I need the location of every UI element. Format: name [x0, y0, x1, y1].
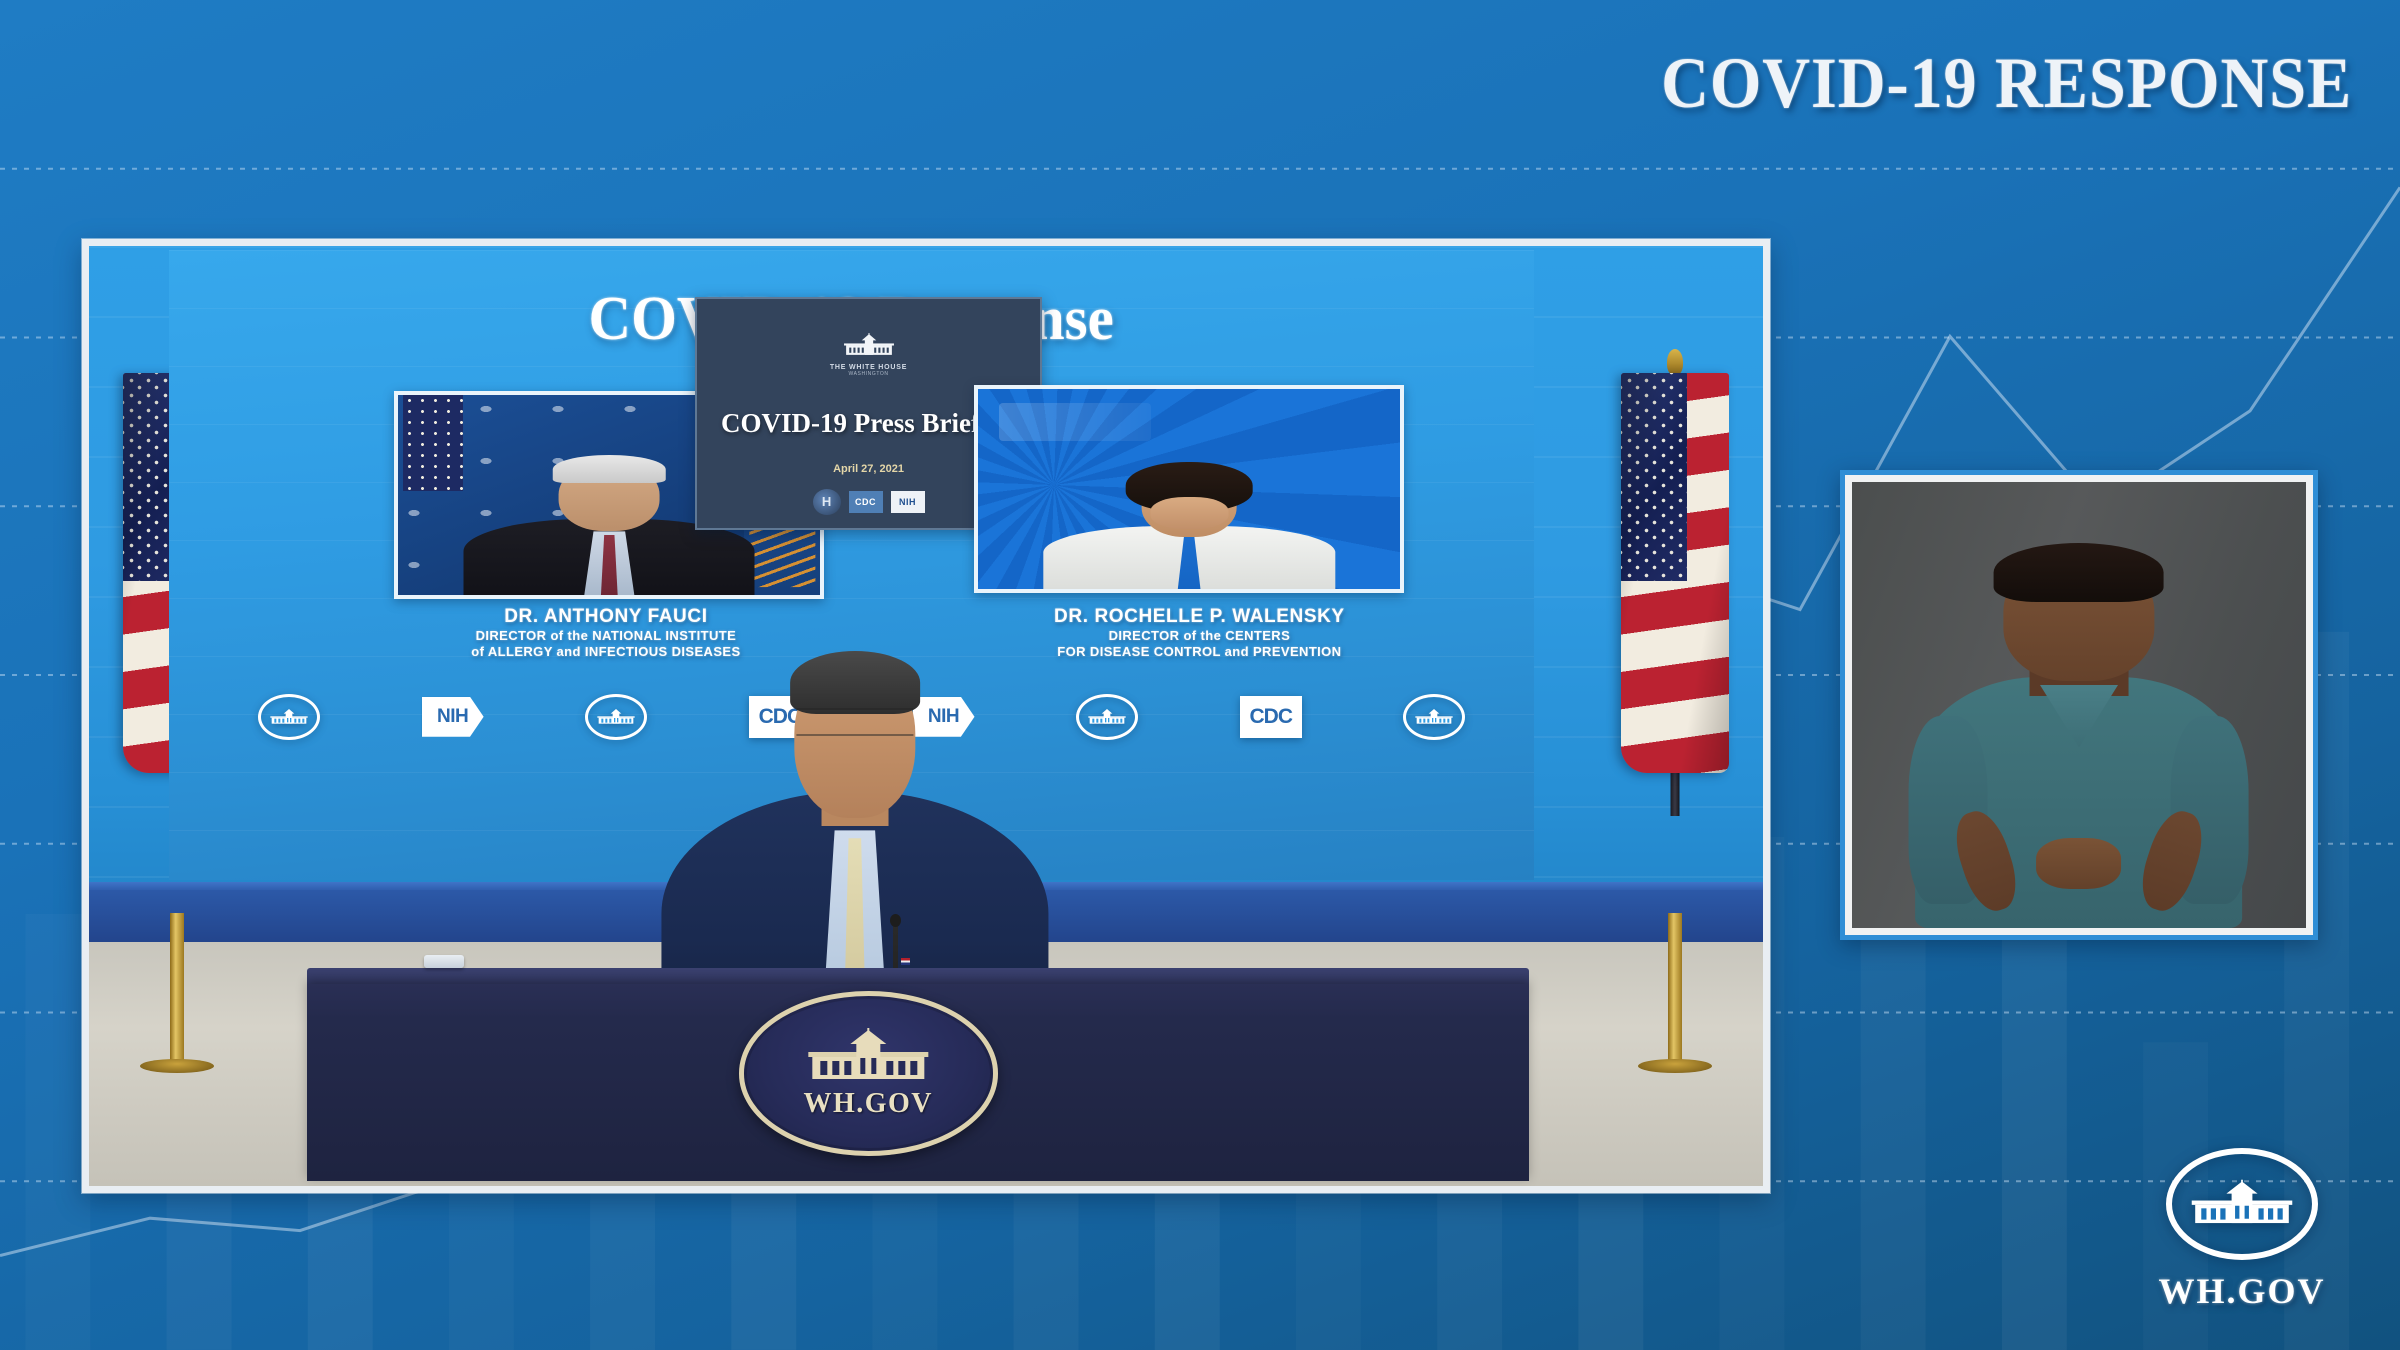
white-house-logo-icon — [1076, 694, 1138, 740]
hhs-logo-icon: H — [813, 489, 841, 515]
podium-seal: WH.GOV — [739, 991, 998, 1156]
glasses-icon — [796, 708, 913, 736]
white-house-logo-icon — [585, 694, 647, 740]
interpreter-hands — [2037, 838, 2122, 889]
interpreter-figure — [1916, 536, 2243, 928]
walensky-figure — [1101, 445, 1278, 589]
white-house-oval-icon — [2166, 1148, 2318, 1260]
center-slide-org-sub: WASHINGTON — [697, 371, 1041, 377]
participant-tile-walensky[interactable] — [974, 385, 1404, 593]
cdc-logo-icon: CDC — [1240, 696, 1302, 738]
nameplate-walensky-role-line1: DIRECTOR of the CENTERS — [927, 628, 1473, 645]
center-slide-org-name: THE WHITE HOUSE — [697, 364, 1041, 371]
main-video-feed[interactable]: COVID-19 Response — [89, 246, 1763, 1186]
nameplate-fauci-name: DR. ANTHONY FAUCI — [347, 606, 865, 628]
white-house-icon — [791, 1028, 946, 1084]
american-flag-right — [1620, 359, 1730, 1073]
fauci-figure — [512, 435, 706, 595]
nameplate-walensky-role-line2: FOR DISEASE CONTROL and PREVENTION — [927, 644, 1473, 661]
sign-language-interpreter-feed[interactable] — [1845, 475, 2313, 935]
nameplate-walensky: DR. ROCHELLE P. WALENSKY DIRECTOR of the… — [927, 606, 1473, 661]
corner-watermark-text: WH.GOV — [2142, 1270, 2342, 1312]
white-house-icon — [843, 333, 895, 357]
flag-pin-icon — [901, 958, 910, 965]
face-mask-box — [424, 955, 464, 968]
cdc-logo-icon: CDC — [849, 491, 883, 513]
white-house-logo-icon — [1403, 694, 1465, 740]
nameplate-walensky-name: DR. ROCHELLE P. WALENSKY — [927, 606, 1473, 628]
corner-watermark: WH.GOV — [2142, 1148, 2342, 1312]
white-house-logo-icon — [258, 694, 320, 740]
main-video-frame[interactable]: COVID-19 Response — [82, 239, 1770, 1193]
podium-seal-text: WH.GOV — [803, 1088, 933, 1120]
nih-logo-icon: NIH — [422, 697, 484, 737]
nih-logo-icon: NIH — [891, 491, 925, 513]
page-title: COVID-19 RESPONSE — [1661, 42, 2352, 125]
cdc-hhs-logo-icon — [999, 403, 1151, 441]
sign-language-interpreter-panel[interactable] — [1840, 470, 2318, 940]
